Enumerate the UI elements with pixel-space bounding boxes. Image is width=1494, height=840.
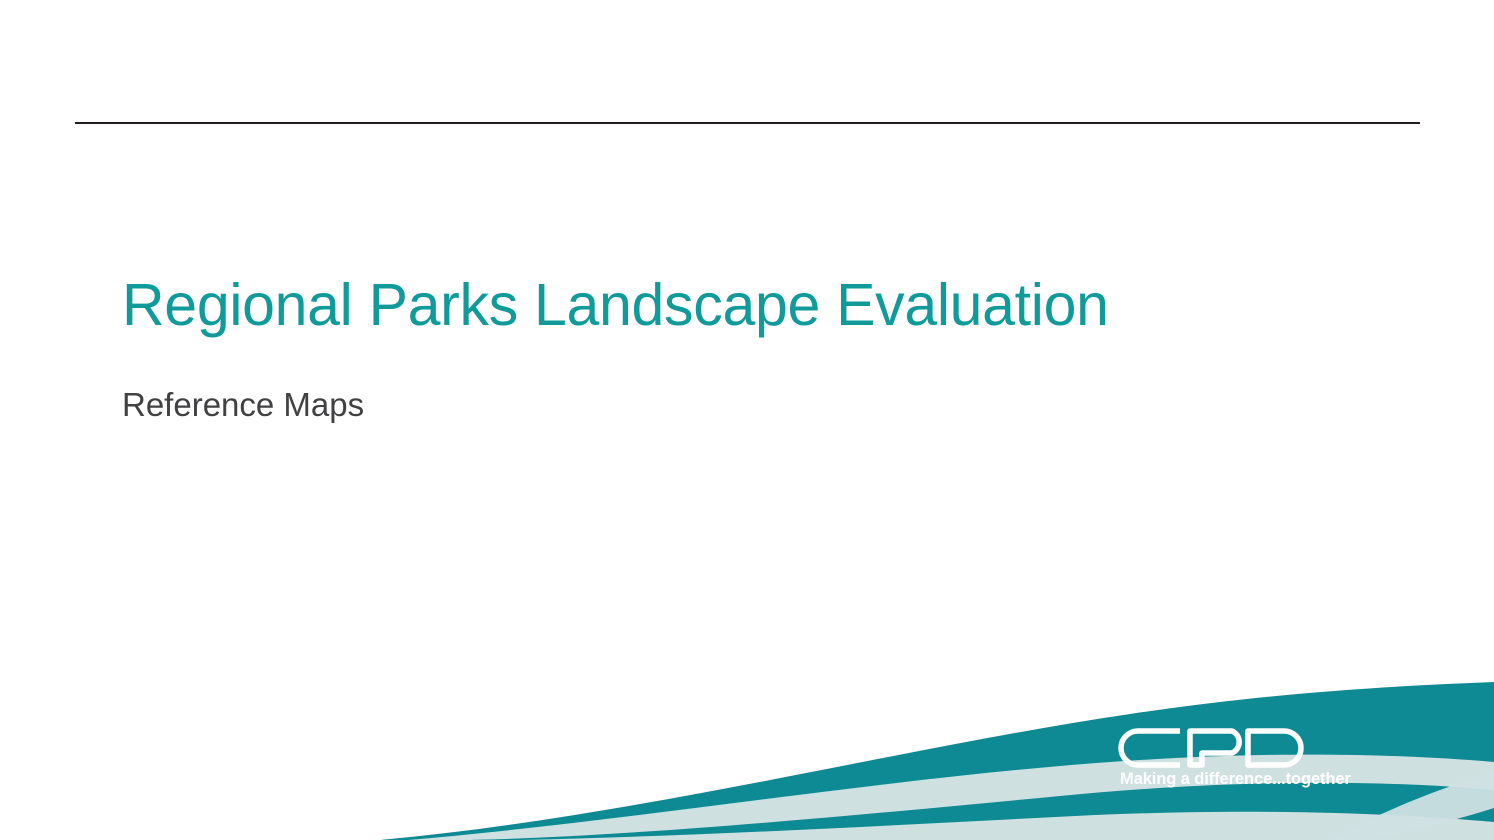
wave-band-light-lower	[520, 812, 1494, 840]
header-divider-rule	[75, 122, 1420, 124]
crd-logo: Making a difference...together	[1118, 726, 1358, 794]
page-title: Regional Parks Landscape Evaluation	[122, 272, 1302, 338]
title-block: Regional Parks Landscape Evaluation	[122, 272, 1302, 338]
presentation-slide: Regional Parks Landscape Evaluation Refe…	[0, 0, 1494, 840]
crd-logo-icon	[1118, 726, 1323, 770]
crd-logo-tagline: Making a difference...together	[1120, 770, 1351, 789]
page-subtitle: Reference Maps	[122, 385, 364, 425]
